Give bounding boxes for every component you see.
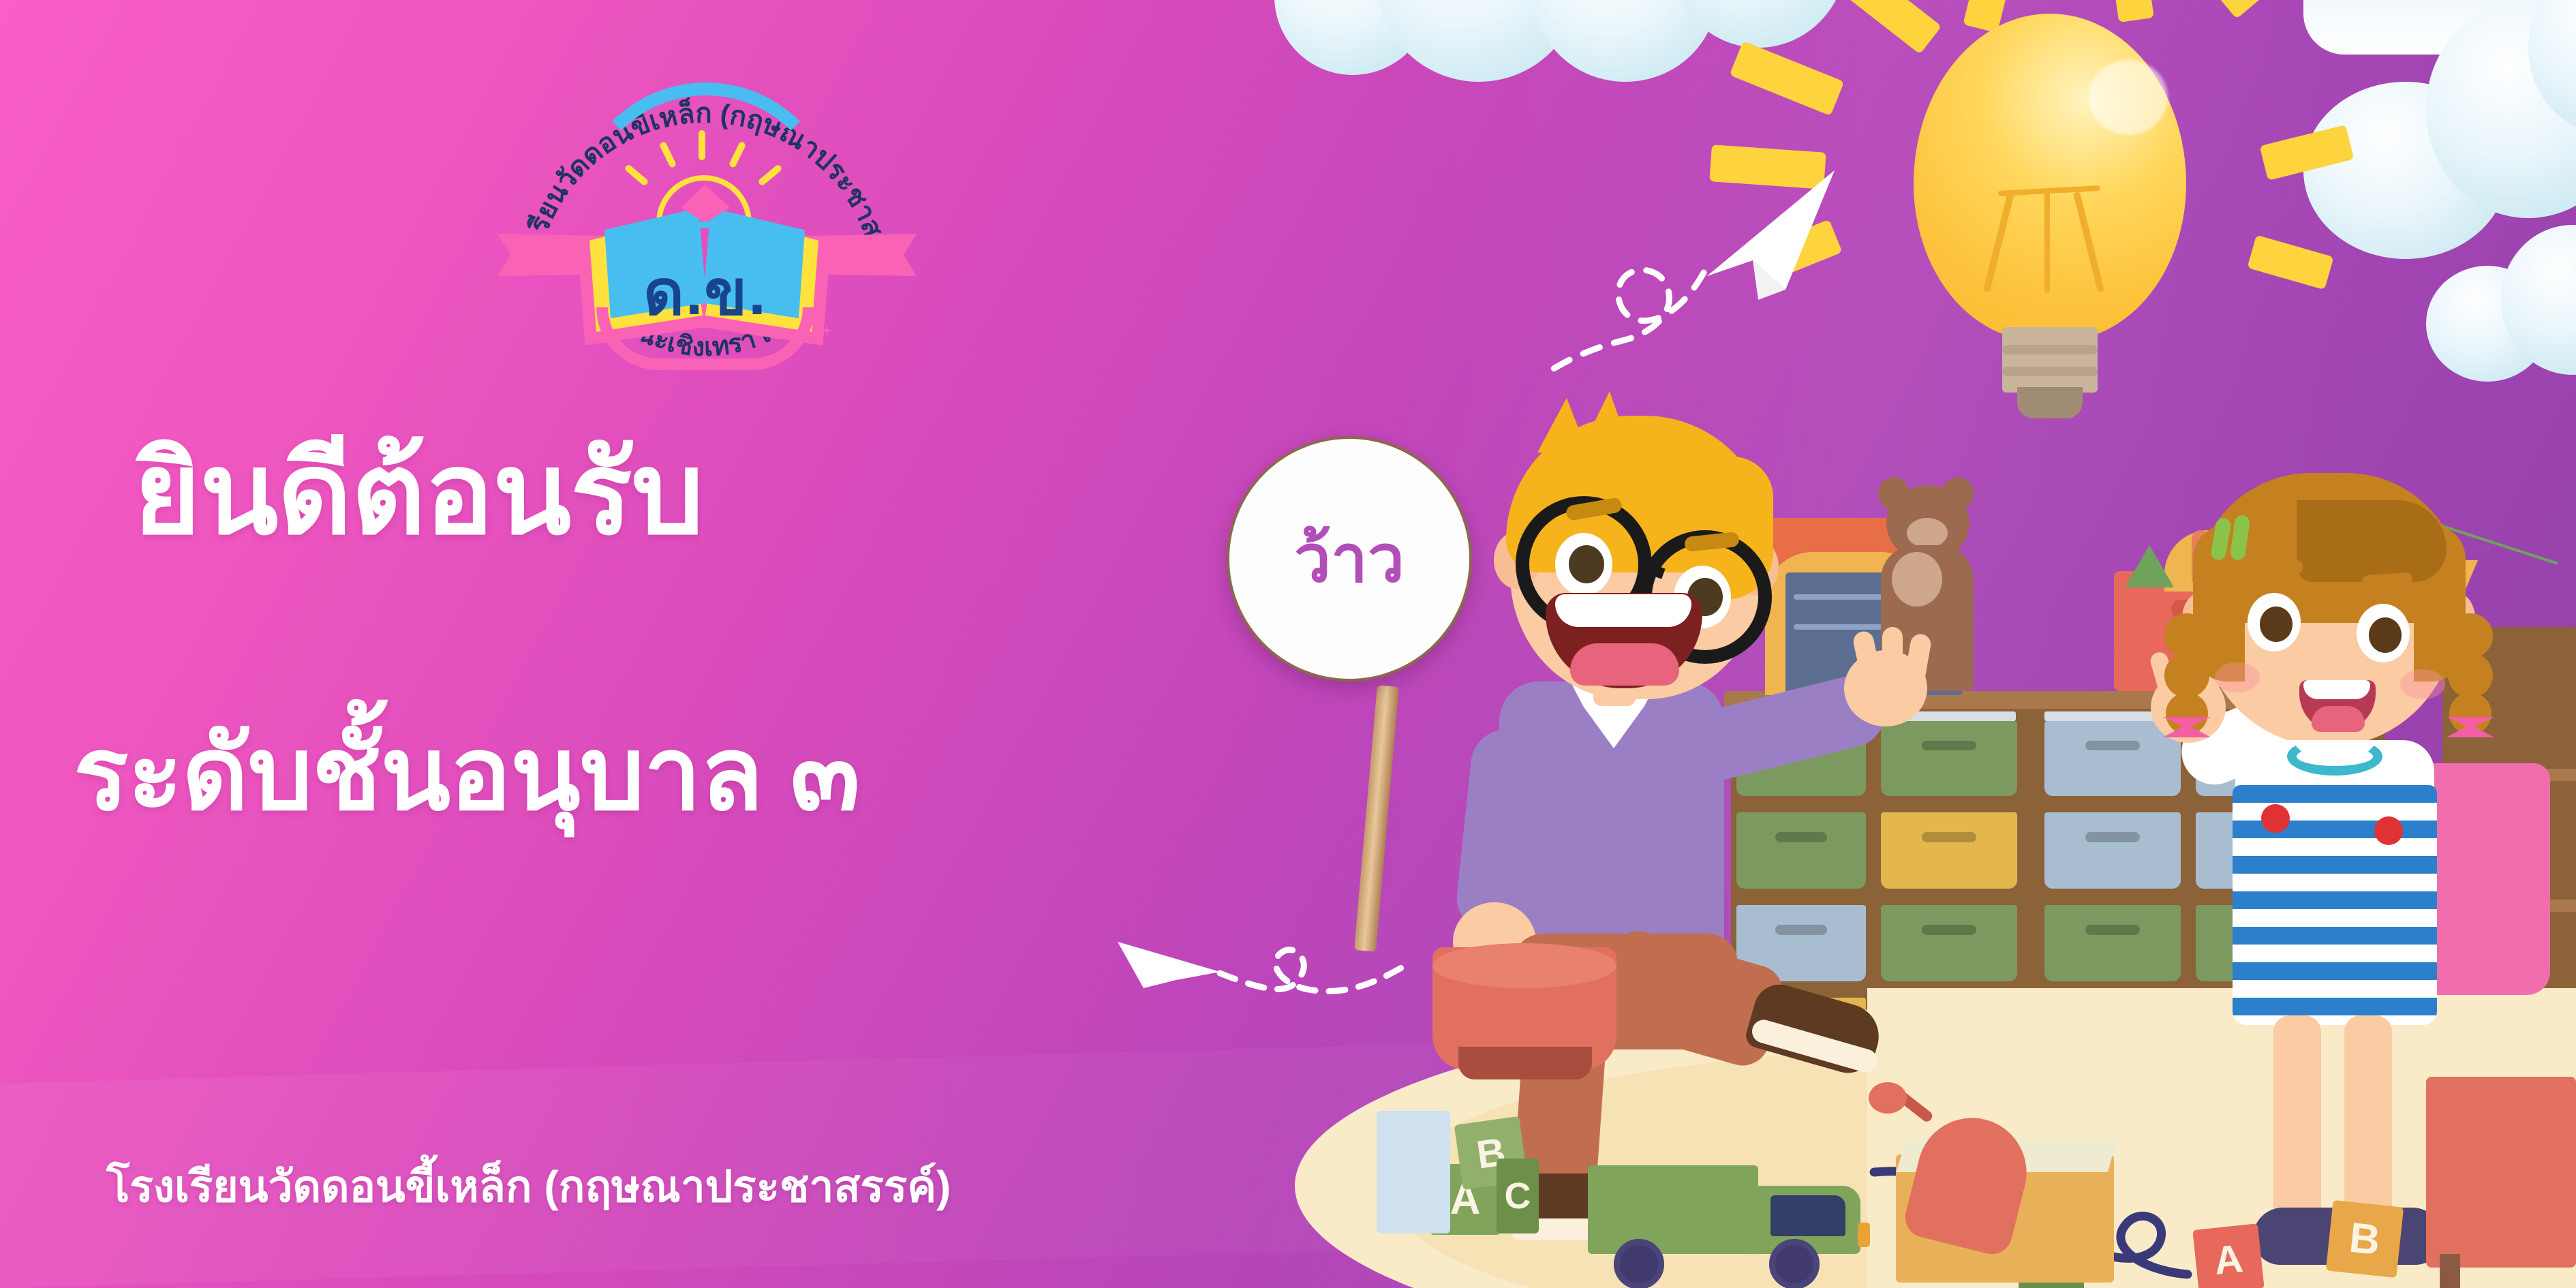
alphabet-block-c: C — [1497, 1159, 1539, 1233]
cloud-icon-right-mid — [2426, 225, 2576, 382]
boy-pupil-left — [1569, 545, 1604, 583]
shelf-bin — [1881, 721, 2017, 796]
boy-teeth — [1555, 594, 1691, 627]
toy-block-plain — [1377, 1111, 1450, 1233]
toy-truck-wheel — [1614, 1239, 1664, 1288]
girl-leg-right — [2344, 1015, 2392, 1224]
girl-braid-right — [2448, 653, 2493, 698]
red-cabinet — [2426, 1077, 2576, 1268]
teddy-bear-ear — [1942, 477, 1974, 510]
toy-truck — [1588, 1165, 1888, 1268]
girl-pupil-left — [2260, 607, 2293, 642]
teddy-bear-belly — [1892, 552, 1942, 607]
red-cabinet-leg — [2440, 1254, 2460, 1288]
toy-truck-body — [1588, 1165, 1758, 1254]
girl-tongue — [2312, 706, 2365, 732]
girl-leg-left — [2273, 1015, 2321, 1224]
toy-truck-window — [1770, 1195, 1845, 1236]
teddy-bear-muzzle — [1907, 518, 1948, 548]
school-crest: (โรงเรียนวัดดอนขี้เหล็ก (กฤษณาประชาสรรค์… — [501, 17, 910, 399]
girl-braid-left — [2164, 653, 2209, 698]
girl-braid-right — [2448, 613, 2493, 658]
spinning-top-knob — [1869, 1082, 1907, 1114]
toy-truck-wheel — [1769, 1239, 1820, 1288]
paper-plane-icon-top — [1349, 61, 1867, 375]
wow-sign-label: ว้าว — [1294, 507, 1405, 611]
headline-line-1: ยินดีต้อนรับ — [134, 436, 703, 551]
headline-line-2: ระดับชั้นอนุบาล ๓ — [74, 722, 859, 825]
girl-teeth — [2303, 680, 2370, 699]
girl-dress-button — [2374, 816, 2403, 845]
boy-hair-tuft — [1537, 398, 1588, 453]
school-name-footer: โรงเรียนวัดดอนขี้เหล็ก (กฤษณาประชาสรรค์) — [106, 1152, 951, 1221]
headline-group: ยินดีต้อนรับ — [134, 436, 703, 551]
girl-cheek — [2215, 662, 2260, 692]
girl-pupil-right — [2369, 617, 2402, 653]
alphabet-block-a2: A — [2192, 1223, 2265, 1288]
shelf-bin — [1881, 812, 2017, 889]
boy-fingers-right — [1882, 627, 1903, 692]
headline-group-2: ระดับชั้นอนุบาล ๓ — [74, 722, 859, 825]
girl-collar — [2287, 737, 2382, 776]
girl-cheek — [2400, 669, 2445, 699]
girl-hair-fringe — [2297, 500, 2447, 582]
welcome-banner: (โรงเรียนวัดดอนขี้เหล็ก (กฤษณาประชาสรรค์… — [0, 0, 2576, 1288]
boy-tongue — [1570, 643, 1679, 686]
girl-braid-left — [2164, 613, 2209, 658]
red-stool-top — [1432, 943, 1616, 988]
wow-sign[interactable]: ว้าว — [1227, 436, 1472, 681]
girl-dress-button — [2261, 804, 2290, 833]
shelf-bin — [1881, 905, 2017, 981]
alphabet-block-b2: B — [2326, 1200, 2404, 1278]
red-stool-base — [1458, 1047, 1592, 1079]
